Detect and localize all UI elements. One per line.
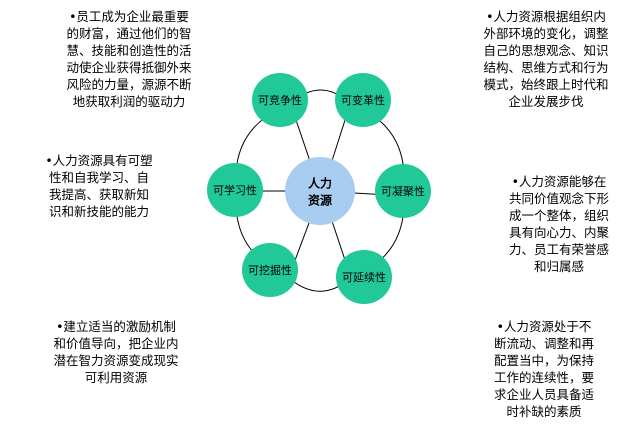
center-circle-shape (285, 157, 355, 225)
node-reformable-label: 可变革性 (341, 93, 385, 107)
node-learnable-label: 可学习性 (213, 183, 257, 197)
diagram-canvas: •员工成为企业最重要 的财富，通过他们的智 慧、技能和创造性的活 动使企业获得抵… (0, 0, 643, 442)
node-learnable[interactable]: 可学习性 (207, 163, 263, 217)
node-competitive[interactable]: 可竞争性 (252, 73, 308, 127)
node-exploitable[interactable]: 可挖掘性 (242, 243, 298, 297)
node-sustainable[interactable]: 可延续性 (336, 250, 392, 304)
node-cohesive[interactable]: 可凝聚性 (375, 164, 431, 218)
center-label-line2: 资源 (308, 193, 332, 208)
node-cohesive-label: 可凝聚性 (381, 184, 425, 198)
node-reformable[interactable]: 可变革性 (335, 73, 391, 127)
node-exploitable-label: 可挖掘性 (248, 263, 292, 277)
node-center-human-resources[interactable]: 人力 资源 (285, 157, 355, 225)
node-competitive-label: 可竞争性 (258, 93, 302, 107)
note-middle-left: •人力资源具有可塑 性和自我学习、自 我提高、获取新知 识和新技能的能力 (8, 152, 190, 220)
note-bottom-right: •人力资源处于不 断流动、调整和再 配置当中，为保持 工作的连续性，要 求企业人… (456, 318, 632, 420)
note-middle-right: •人力资源能够在 共同价值观念下形 成一个整体，组织 具有向心力、内聚 力、员工… (478, 173, 640, 275)
node-sustainable-label: 可延续性 (342, 270, 386, 284)
hub-and-spoke-diagram: 可竞争性 可变革性 可凝聚性 可延续性 可挖掘性 可学习性 (170, 55, 470, 315)
note-bottom-left: •建立适当的激励机制 和价值导向，把企业内 潜在智力资源变成现实 可利用资源 (20, 318, 212, 386)
note-top-right: •人力资源根据组织内 外部环境的变化，调整 自己的思想观念、知识 结构、思维方式… (452, 8, 640, 110)
center-label-line1: 人力 (308, 176, 332, 191)
